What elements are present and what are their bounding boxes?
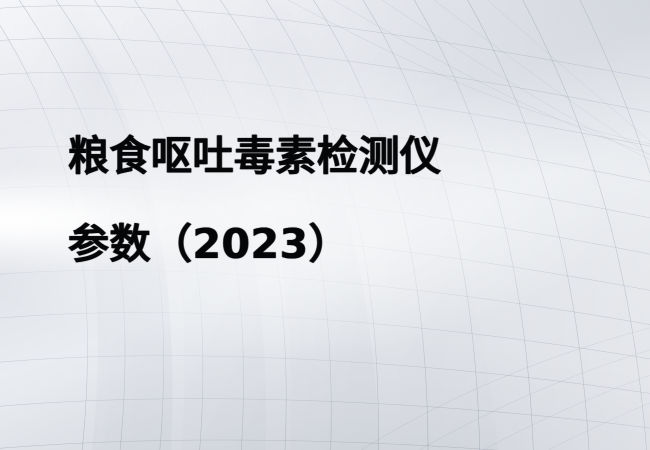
headline-line-1: 粮食呕吐毒素检测仪 [68,112,588,200]
title-banner: 粮食呕吐毒素检测仪 参数（2023） [0,0,650,450]
headline-line-2: 参数（2023） [68,200,588,288]
headline-block: 粮食呕吐毒素检测仪 参数（2023） [68,112,588,288]
